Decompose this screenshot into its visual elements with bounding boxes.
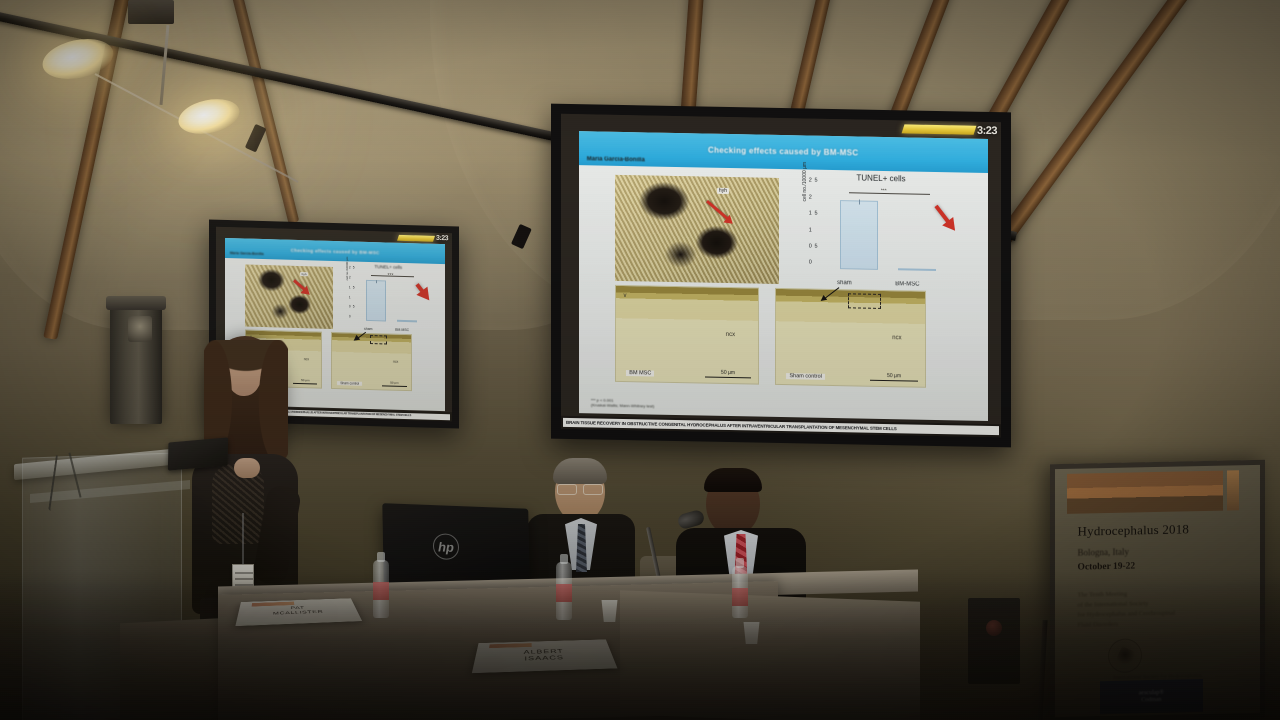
y-tick-label: 1 xyxy=(349,295,351,299)
projection-screen-main: 3:23 Checking effects caused by BM-MSC M… xyxy=(551,104,1011,448)
timer-progress-bar xyxy=(397,234,435,241)
slide-body: hyh TUNEL+ cells cell no./10000 µm 0 0 5… xyxy=(579,168,988,396)
panelist-1-hair xyxy=(553,458,607,484)
scale-bar-label: 50 µm xyxy=(382,380,407,385)
x-tick-label-bmmsc: BM-MSC xyxy=(895,282,919,288)
lectern-device xyxy=(168,437,228,470)
red-arrow-icon xyxy=(706,200,730,222)
poster-image-edge xyxy=(1227,470,1239,510)
black-arrow-icon xyxy=(357,332,365,339)
chart-plot-area: 0 0 5 1 1 5 2 2 5 *** xyxy=(361,272,438,323)
mouse-photo-label: hyh xyxy=(717,188,729,194)
slide-title-bar: Checking effects caused by BM-MSC xyxy=(579,131,988,173)
y-tick-label: 1 5 xyxy=(349,285,355,289)
scale-bar-label: 50 µm xyxy=(705,369,750,376)
cortex-label: ncx xyxy=(892,335,901,341)
significance-stars: *** xyxy=(388,273,394,279)
chart-title: TUNEL+ cells xyxy=(856,173,905,183)
histology-panel-bm-msc: v ncx BM MSC 50 µm xyxy=(615,285,758,385)
y-tick-label: 2 5 xyxy=(349,266,355,270)
y-tick-label: 2 xyxy=(809,194,813,200)
timer-progress-bar xyxy=(902,124,977,134)
error-bar xyxy=(859,199,860,204)
mouse-cage-photo: hyh xyxy=(245,264,333,329)
bar-sham xyxy=(366,280,386,321)
hp-logo-icon: hp xyxy=(433,533,459,560)
footer-strip: BRAIN TISSUE RECOVERY IN OBSTRUCTIVE CON… xyxy=(563,418,999,435)
bar-bm-msc xyxy=(898,269,936,272)
panel-tag: BM MSC xyxy=(626,370,654,377)
significance-bracket xyxy=(849,192,930,195)
poster-skyline-image xyxy=(1067,471,1223,514)
y-tick-label: 2 5 xyxy=(809,178,818,184)
histology-panel-sham: ncx Sham control 50 µm xyxy=(775,288,926,388)
cortex-label: ncx xyxy=(726,332,735,338)
slide-title: Checking effects caused by BM-MSC xyxy=(291,247,380,254)
y-tick-label: 1 5 xyxy=(809,211,818,217)
floor-shadow xyxy=(0,570,1280,720)
x-tick-label-sham: sham xyxy=(837,280,852,286)
y-tick-label: 0 5 xyxy=(809,244,818,250)
error-bar xyxy=(376,280,377,283)
mouse-photo-label: hyh xyxy=(300,272,309,276)
slide-title: Checking effects caused by BM-MSC xyxy=(708,146,858,158)
poster-location: Bologna, Italy xyxy=(1078,547,1130,558)
poster-heading: Hydrocephalus 2018 xyxy=(1078,521,1190,539)
bar-bm-msc xyxy=(397,320,417,323)
panel-tag: Sham control xyxy=(786,373,824,380)
scale-bar: 50 µm xyxy=(382,380,407,387)
chart-plot-area: 0 0 5 1 1 5 2 2 5 *** xyxy=(832,187,976,272)
chart-y-axis-label: cell no./10000 µm xyxy=(802,162,808,202)
bar-sham xyxy=(840,200,878,270)
mouse-cage-photo: hyh xyxy=(615,175,779,284)
histology-panel-sham: ncx Sham control 50 µm xyxy=(331,332,412,392)
wall-sconce xyxy=(128,316,152,342)
chart-title: TUNEL+ cells xyxy=(374,264,402,270)
red-arrow-icon xyxy=(934,205,951,226)
y-tick-label: 0 xyxy=(349,314,351,318)
timer-value: 3:23 xyxy=(436,235,448,242)
scale-bar-label: 50 µm xyxy=(870,373,918,380)
panel-tag: Sham control xyxy=(337,381,362,386)
y-tick-label: 0 xyxy=(809,260,813,266)
screen-surface: 3:23 Checking effects caused by BM-MSC M… xyxy=(561,114,1001,437)
significance-stars: *** xyxy=(881,188,887,194)
presenter-hand xyxy=(234,458,260,478)
tunel-bar-chart: TUNEL+ cells cell no./10000 µm 0 0 5 1 1… xyxy=(346,263,440,337)
slide-canvas: Checking effects caused by BM-MSC María … xyxy=(579,131,988,421)
scale-bar-line xyxy=(382,385,407,387)
scale-bar-line xyxy=(705,376,750,378)
slide-footnote: *** p < 0.001 (Kruskal-Wallis; Mann-Whit… xyxy=(591,397,654,409)
cortex-label: ncx xyxy=(393,360,398,364)
black-arrow-icon xyxy=(825,287,840,299)
projector-mount xyxy=(128,0,174,24)
red-arrow-icon xyxy=(415,283,426,295)
panelist-2-hair xyxy=(704,468,762,492)
tunel-bar-chart: TUNEL+ cells cell no./10000 µm 0 0 5 1 1… xyxy=(804,172,980,296)
x-tick-label-sham: sham xyxy=(364,327,372,331)
y-tick-label: 1 xyxy=(809,227,813,233)
scale-bar: 50 µm xyxy=(870,373,918,382)
timer-value: 3:23 xyxy=(977,124,997,136)
ventricle-label: v xyxy=(623,293,626,299)
eyeglasses-icon xyxy=(557,484,603,493)
scale-bar-line xyxy=(870,380,918,382)
conference-room-photo: 3:23 Checking effects caused by BM-MSC M… xyxy=(0,0,1280,720)
y-tick-label: 0 5 xyxy=(349,305,355,309)
y-tick-label: 2 xyxy=(349,275,351,279)
roi-box xyxy=(370,335,387,344)
red-arrow-icon xyxy=(293,280,307,293)
slide-footnote-test: (Kruskal-Wallis; Mann-Whitney test) xyxy=(591,402,654,409)
scale-bar: 50 µm xyxy=(705,369,750,378)
footer-banner-text: BRAIN TISSUE RECOVERY IN OBSTRUCTIVE CON… xyxy=(563,420,897,431)
roi-box xyxy=(848,293,881,309)
slide-author: María García-Bonilla xyxy=(587,157,645,164)
x-tick-label-bmmsc: BM-MSC xyxy=(395,328,409,332)
